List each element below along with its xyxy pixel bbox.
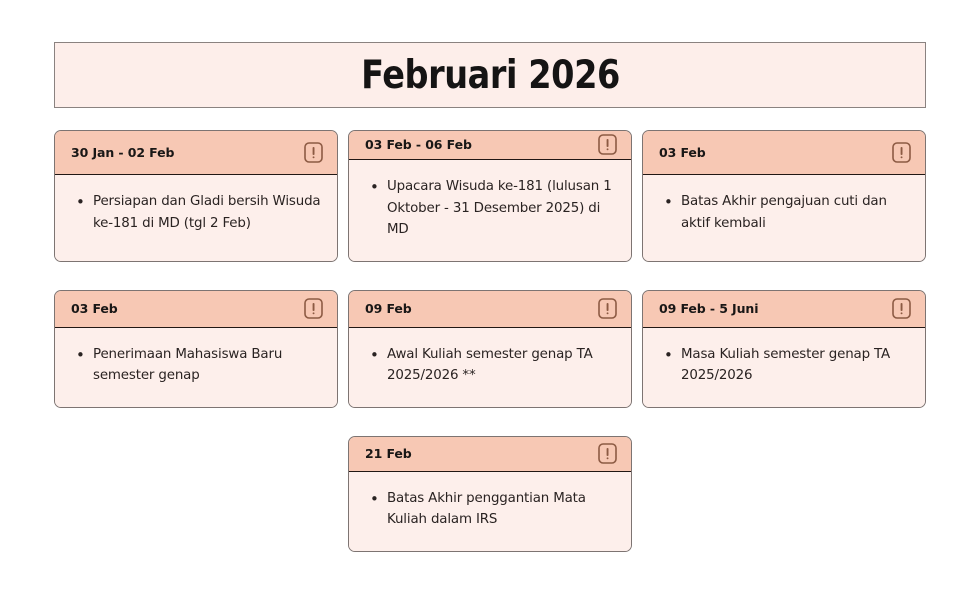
event-card-grid: 30 Jan - 02 Feb Persiapan dan Gladi bers…	[54, 130, 926, 552]
event-card-header: 21 Feb	[349, 437, 631, 472]
calendar-page: Februari 2026 30 Jan - 02 Feb Persiapan …	[0, 0, 980, 596]
event-card[interactable]: 09 Feb Awal Kuliah semester genap TA 202…	[348, 290, 632, 408]
event-card-header: 03 Feb	[55, 291, 337, 328]
event-date-label: 03 Feb	[71, 301, 118, 316]
alert-exclamation-icon	[304, 142, 323, 163]
event-card-header: 03 Feb	[643, 131, 925, 175]
list-item: Penerimaan Mahasiswa Baru semester genap	[93, 344, 321, 387]
event-card[interactable]: 09 Feb - 5 Juni Masa Kuliah semester gen…	[642, 290, 926, 408]
list-item: Batas Akhir pengajuan cuti dan aktif kem…	[681, 191, 909, 234]
event-date-label: 03 Feb	[659, 145, 706, 160]
event-list: Batas Akhir pengajuan cuti dan aktif kem…	[659, 191, 909, 234]
event-card-body: Awal Kuliah semester genap TA 2025/2026 …	[349, 328, 631, 407]
alert-exclamation-icon	[598, 298, 617, 319]
event-card-body: Batas Akhir pengajuan cuti dan aktif kem…	[643, 175, 925, 261]
event-card[interactable]: 03 Feb Penerimaan Mahasiswa Baru semeste…	[54, 290, 338, 408]
event-date-label: 09 Feb - 5 Juni	[659, 301, 758, 316]
event-list: Penerimaan Mahasiswa Baru semester genap	[71, 344, 321, 387]
month-title-banner: Februari 2026	[54, 42, 926, 108]
event-date-label: 03 Feb - 06 Feb	[365, 137, 472, 152]
alert-exclamation-icon	[304, 298, 323, 319]
event-list: Masa Kuliah semester genap TA 2025/2026	[659, 344, 909, 387]
list-item: Awal Kuliah semester genap TA 2025/2026 …	[387, 344, 615, 387]
card-row-1: 30 Jan - 02 Feb Persiapan dan Gladi bers…	[54, 130, 926, 262]
event-card-header: 09 Feb	[349, 291, 631, 328]
event-date-label: 09 Feb	[365, 301, 412, 316]
event-card-body: Upacara Wisuda ke-181 (lulusan 1 Oktober…	[349, 160, 631, 261]
event-card-header: 09 Feb - 5 Juni	[643, 291, 925, 328]
card-row-2: 03 Feb Penerimaan Mahasiswa Baru semeste…	[54, 290, 926, 408]
event-card-header: 03 Feb - 06 Feb	[349, 131, 631, 160]
alert-exclamation-icon	[598, 443, 617, 464]
event-card[interactable]: 21 Feb Batas Akhir penggantian Mata Kuli…	[348, 436, 632, 552]
event-date-label: 21 Feb	[365, 446, 412, 461]
event-date-label: 30 Jan - 02 Feb	[71, 145, 174, 160]
event-list: Upacara Wisuda ke-181 (lulusan 1 Oktober…	[365, 176, 615, 241]
list-item: Persiapan dan Gladi bersih Wisuda ke-181…	[93, 191, 321, 234]
alert-exclamation-icon	[892, 298, 911, 319]
alert-exclamation-icon	[598, 134, 617, 155]
event-list: Batas Akhir penggantian Mata Kuliah dala…	[365, 488, 615, 531]
list-item: Batas Akhir penggantian Mata Kuliah dala…	[387, 488, 615, 531]
event-card-body: Penerimaan Mahasiswa Baru semester genap	[55, 328, 337, 407]
event-card-body: Batas Akhir penggantian Mata Kuliah dala…	[349, 472, 631, 551]
page-title: Februari 2026	[361, 53, 620, 98]
event-card[interactable]: 30 Jan - 02 Feb Persiapan dan Gladi bers…	[54, 130, 338, 262]
event-card[interactable]: 03 Feb - 06 Feb Upacara Wisuda ke-181 (l…	[348, 130, 632, 262]
event-list: Awal Kuliah semester genap TA 2025/2026 …	[365, 344, 615, 387]
card-row-3: 21 Feb Batas Akhir penggantian Mata Kuli…	[54, 436, 926, 552]
list-item: Masa Kuliah semester genap TA 2025/2026	[681, 344, 909, 387]
event-list: Persiapan dan Gladi bersih Wisuda ke-181…	[71, 191, 321, 234]
event-card-header: 30 Jan - 02 Feb	[55, 131, 337, 175]
list-item: Upacara Wisuda ke-181 (lulusan 1 Oktober…	[387, 176, 615, 241]
event-card-body: Masa Kuliah semester genap TA 2025/2026	[643, 328, 925, 407]
event-card[interactable]: 03 Feb Batas Akhir pengajuan cuti dan ak…	[642, 130, 926, 262]
alert-exclamation-icon	[892, 142, 911, 163]
event-card-body: Persiapan dan Gladi bersih Wisuda ke-181…	[55, 175, 337, 261]
